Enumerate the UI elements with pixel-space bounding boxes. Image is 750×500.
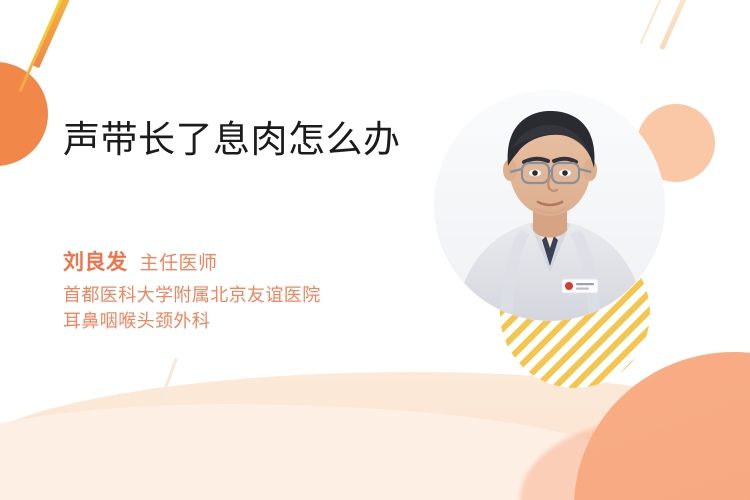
peach-blob-shape (574, 352, 750, 500)
page-title: 声带长了息肉怎么办 (63, 116, 415, 163)
bottom-left-diagonal-stripe (159, 358, 178, 402)
bottom-wave-shape (0, 372, 750, 500)
peach-blob-soft-shape (520, 420, 750, 500)
doctor-job-title: 主任医师 (140, 248, 218, 275)
orange-circle-shape (0, 62, 48, 166)
doctor-name: 刘良发 (63, 246, 128, 276)
title-block: 声带长了息肉怎么办 (63, 116, 415, 163)
doctor-department: 耳鼻咽喉头颈外科 (63, 309, 423, 335)
doctor-credentials: 刘良发 主任医师 首都医科大学附属北京友谊医院 耳鼻咽喉头颈外科 (63, 246, 423, 334)
top-right-diagonal-stripe-b (640, 0, 666, 44)
orange-diagonal-stripe (31, 0, 74, 68)
bottom-wave-secondary-shape (0, 404, 640, 500)
doctor-name-row: 刘良发 主任医师 (63, 246, 423, 276)
doctor-portrait (434, 90, 665, 321)
doctor-hospital: 首都医科大学附属北京友谊医院 (63, 283, 423, 309)
doctor-intro-card: 声带长了息肉怎么办 刘良发 主任医师 首都医科大学附属北京友谊医院 耳鼻咽喉头颈… (0, 0, 750, 500)
hospital-id-badge (562, 279, 598, 293)
top-right-diagonal-stripe-a (659, 0, 690, 50)
doctor-portrait-image (434, 90, 665, 321)
yellow-diagonal-stripe (19, 0, 64, 92)
